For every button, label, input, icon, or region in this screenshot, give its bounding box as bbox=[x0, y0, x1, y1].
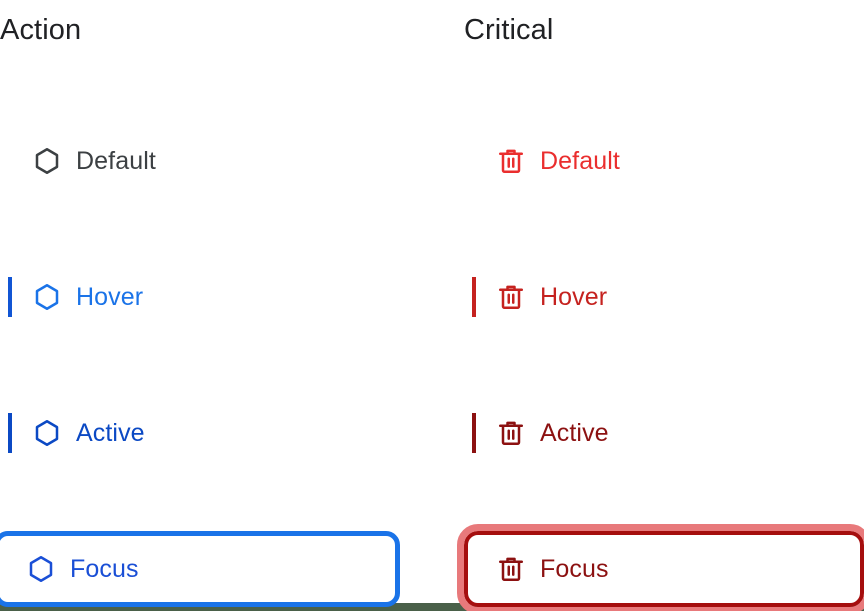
critical-button-active[interactable]: Active bbox=[464, 399, 864, 467]
column-header-critical: Critical bbox=[464, 14, 553, 47]
critical-label-hover: Hover bbox=[540, 285, 607, 310]
hexagon-icon bbox=[32, 418, 62, 448]
critical-button-hover[interactable]: Hover bbox=[464, 263, 864, 331]
trash-icon bbox=[496, 282, 526, 312]
critical-button-default[interactable]: Default bbox=[464, 127, 864, 195]
critical-label-default: Default bbox=[540, 149, 620, 174]
column-action: Action Default Hover bbox=[0, 0, 432, 611]
action-label-hover: Hover bbox=[76, 285, 143, 310]
hexagon-icon bbox=[32, 146, 62, 176]
action-accent-bar-hover bbox=[8, 277, 12, 317]
action-label-focus: Focus bbox=[70, 557, 139, 582]
action-button-active[interactable]: Active bbox=[0, 399, 400, 467]
button-states-matrix: Action Default Hover bbox=[0, 0, 864, 611]
critical-accent-bar-hover bbox=[472, 277, 476, 317]
critical-button-focus[interactable]: Focus bbox=[464, 531, 864, 607]
action-label-default: Default bbox=[76, 149, 156, 174]
action-button-focus[interactable]: Focus bbox=[0, 531, 400, 607]
action-button-hover[interactable]: Hover bbox=[0, 263, 400, 331]
column-header-action: Action bbox=[0, 14, 81, 47]
column-critical: Critical Default bbox=[432, 0, 864, 611]
trash-icon bbox=[496, 146, 526, 176]
trash-icon bbox=[496, 554, 526, 584]
critical-accent-bar-active bbox=[472, 413, 476, 453]
action-button-default[interactable]: Default bbox=[0, 127, 400, 195]
hexagon-icon bbox=[32, 282, 62, 312]
critical-label-focus: Focus bbox=[540, 557, 609, 582]
hexagon-icon bbox=[26, 554, 56, 584]
trash-icon bbox=[496, 418, 526, 448]
action-label-active: Active bbox=[76, 421, 145, 446]
critical-label-active: Active bbox=[540, 421, 609, 446]
action-accent-bar-active bbox=[8, 413, 12, 453]
